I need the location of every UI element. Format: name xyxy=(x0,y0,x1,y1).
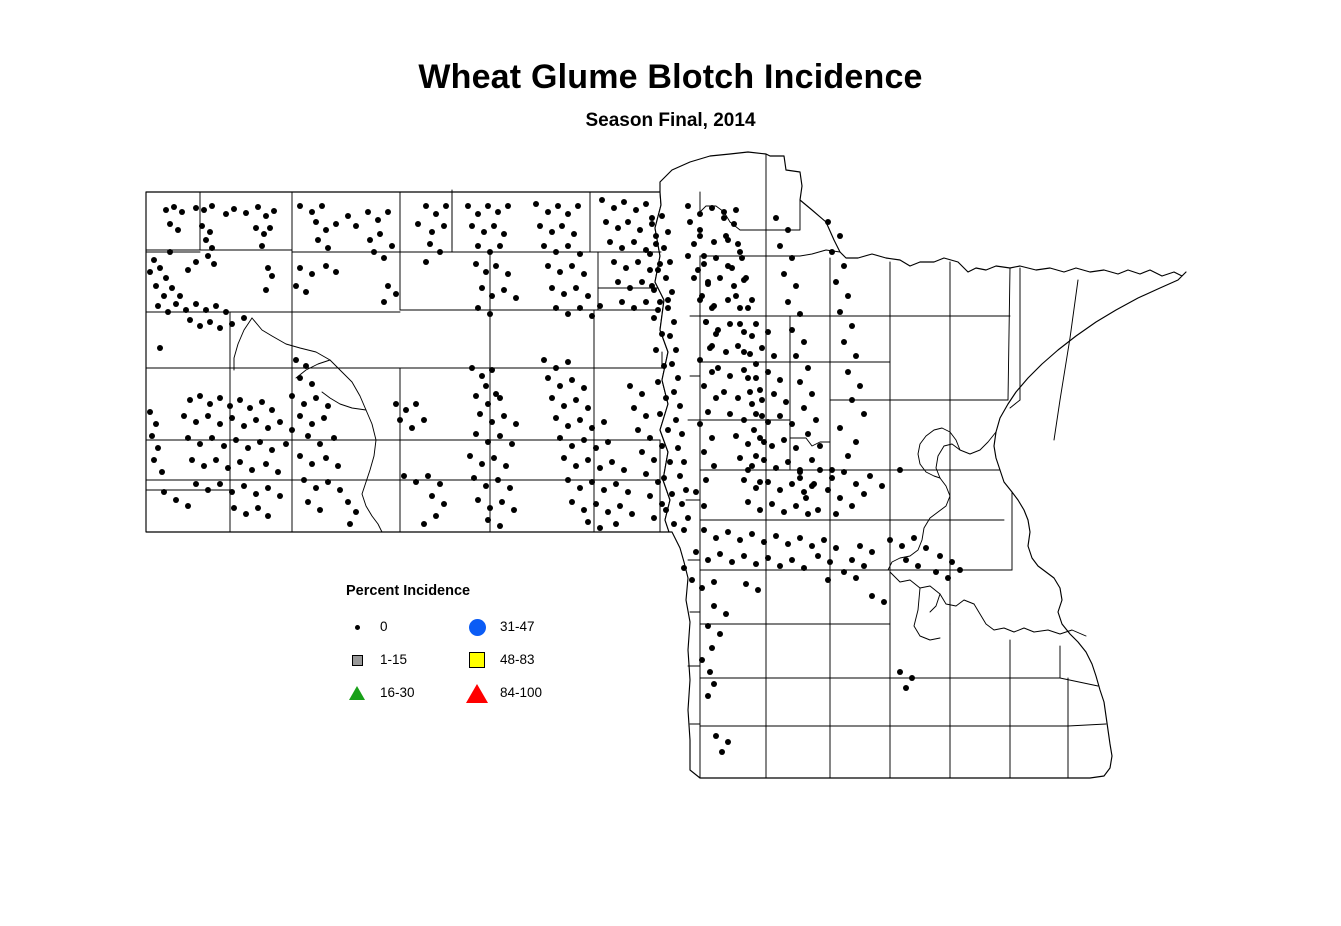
map-canvas xyxy=(0,0,1341,926)
legend-label-31-47: 31-47 xyxy=(500,620,535,634)
state-county-map xyxy=(0,0,1341,926)
legend-grid: 0 1-15 16-30 31-47 48-83 xyxy=(344,616,584,710)
legend-symbol-grey-square xyxy=(344,655,370,666)
legend-item-0: 0 xyxy=(344,616,388,638)
legend-symbol-red-triangle xyxy=(464,684,490,703)
legend-symbol-yellow-square xyxy=(464,652,490,668)
legend-symbol-green-triangle xyxy=(344,686,370,700)
legend-symbol-small-dot xyxy=(344,625,370,630)
legend-symbol-blue-circle xyxy=(464,619,490,636)
legend-label-0: 0 xyxy=(380,620,388,634)
legend-label-48-83: 48-83 xyxy=(500,653,535,667)
legend-item-16-30: 16-30 xyxy=(344,682,415,704)
legend-label-84-100: 84-100 xyxy=(500,686,542,700)
legend-title: Percent Incidence xyxy=(346,583,584,599)
legend-label-1-15: 1-15 xyxy=(380,653,407,667)
legend-item-84-100: 84-100 xyxy=(464,682,542,704)
legend-item-1-15: 1-15 xyxy=(344,649,407,671)
legend-label-16-30: 16-30 xyxy=(380,686,415,700)
legend-item-48-83: 48-83 xyxy=(464,649,535,671)
legend-item-31-47: 31-47 xyxy=(464,616,535,638)
legend: Percent Incidence 0 1-15 16-30 31-47 xyxy=(344,583,584,710)
